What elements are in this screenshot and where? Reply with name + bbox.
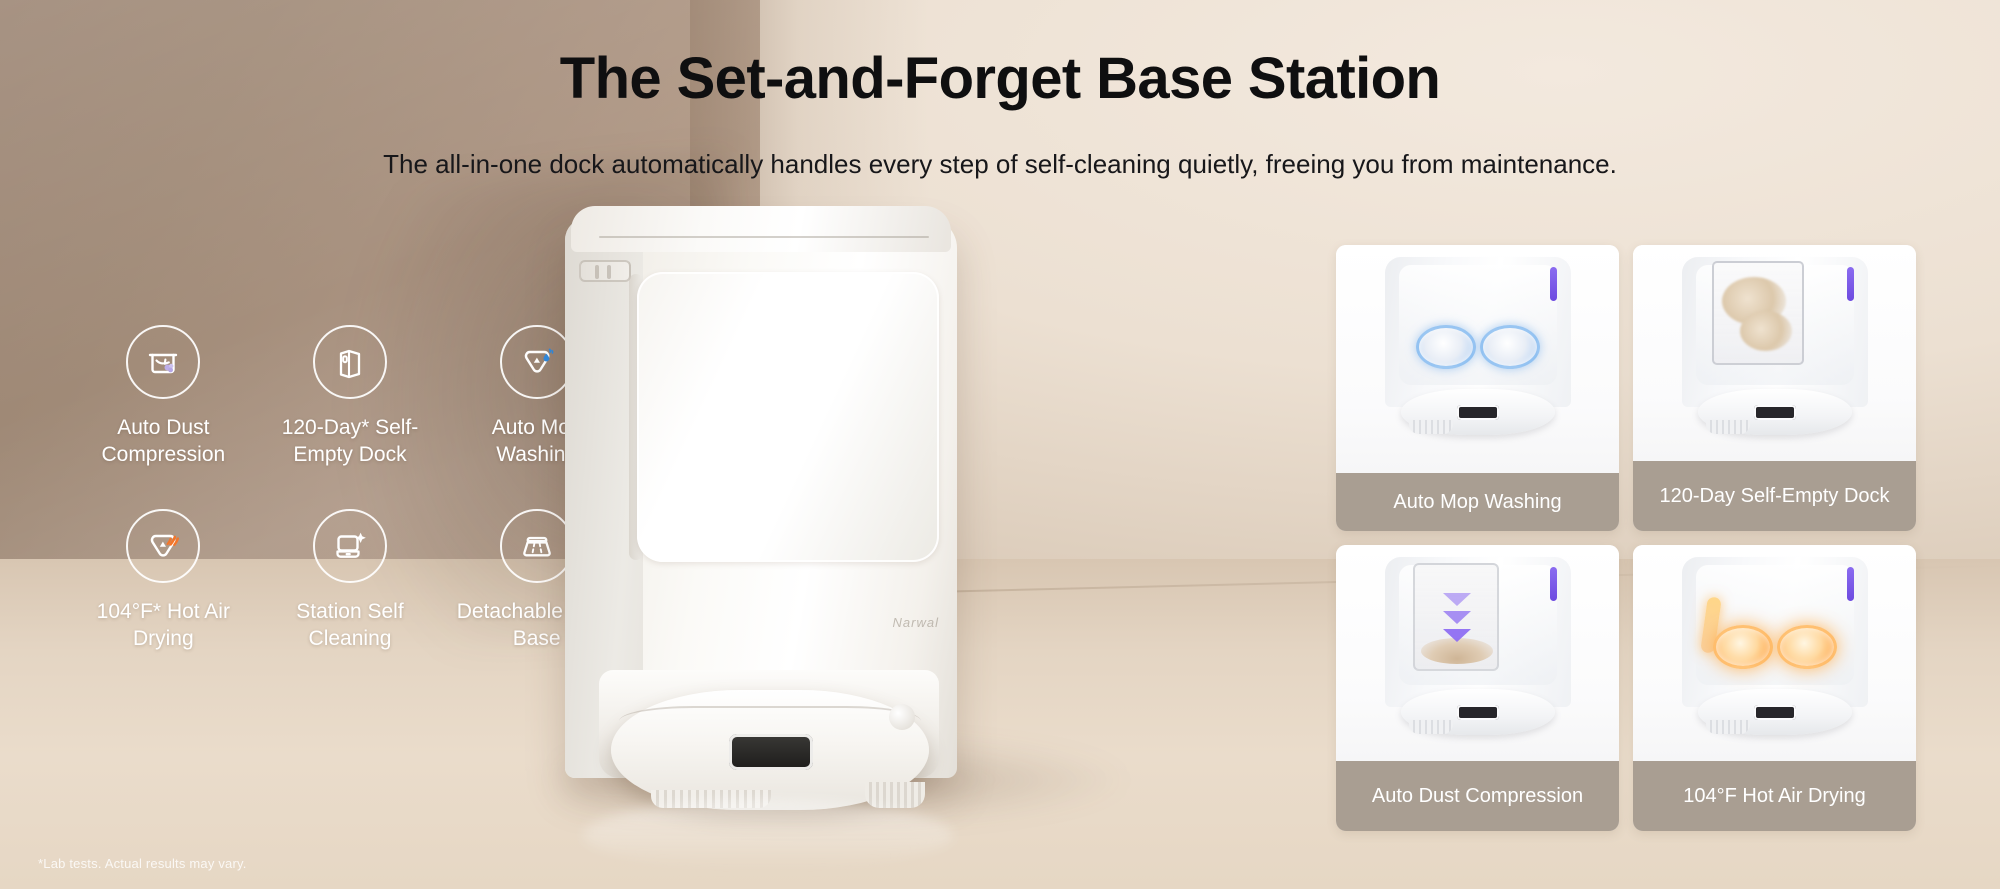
mop-pad: [1480, 325, 1540, 369]
mini-robot-window: [1457, 705, 1499, 720]
dust-bag-compartment: [1712, 261, 1804, 365]
feature-label: Auto Dust Compression: [81, 415, 246, 469]
status-light: [1847, 267, 1854, 301]
status-light: [1550, 567, 1557, 601]
mini-robot: [1698, 689, 1852, 735]
status-light: [1847, 567, 1854, 601]
mop-pad: [1416, 325, 1476, 369]
dust-clump: [1740, 311, 1792, 351]
mini-station-shell: [1682, 257, 1868, 407]
card-caption: Auto Dust Compression: [1336, 761, 1619, 831]
mini-station: [1682, 257, 1868, 435]
detachable-dock-base-icon: [500, 509, 574, 583]
dock-lid-seam: [599, 236, 929, 238]
card-caption: 120-Day Self-Empty Dock: [1633, 461, 1916, 531]
feature-card-dust-compression[interactable]: Auto Dust Compression: [1336, 545, 1619, 831]
mop-pad: [1777, 625, 1837, 669]
mini-robot-window: [1754, 405, 1796, 420]
mop-pads-drying: [1713, 625, 1837, 669]
product-feature-banner: The Set-and-Forget Base Station The all-…: [0, 0, 2000, 889]
feature-list: Auto Dust Compression 120-Day* Self-Empt…: [70, 325, 630, 653]
robot-top-edge: [619, 706, 921, 736]
product-brand-mark: Narwal: [893, 615, 939, 630]
mini-station-shell: [1385, 557, 1571, 707]
mini-robot-window: [1457, 405, 1499, 420]
robot-side-wheel: [889, 704, 915, 730]
mini-robot-vents: [1706, 720, 1750, 734]
robot-sensor-window: [729, 734, 813, 770]
feature-card-grid: Auto Mop Washing: [1336, 245, 1916, 831]
card-photo-mop-washing: [1336, 245, 1619, 473]
feature-card-mop-washing[interactable]: Auto Mop Washing: [1336, 245, 1619, 531]
product-reflection: [583, 800, 953, 870]
card-caption: 104°F Hot Air Drying: [1633, 761, 1916, 831]
page-subtitle: The all-in-one dock automatically handle…: [0, 148, 2000, 182]
feature-card-self-empty-dock[interactable]: 120-Day Self-Empty Dock: [1633, 245, 1916, 531]
mini-robot-vents: [1409, 420, 1453, 434]
card-caption: Auto Mop Washing: [1336, 473, 1619, 531]
feature-label: 120-Day* Self-Empty Dock: [267, 415, 432, 469]
mini-station: [1682, 557, 1868, 735]
feature-label: Station Self Cleaning: [267, 599, 432, 653]
feature-item-hot-air-drying: 104°F* Hot Air Drying: [70, 509, 257, 653]
dust-compression-icon: [126, 325, 200, 399]
robot-vacuum: [611, 690, 929, 810]
mini-station: [1385, 557, 1571, 735]
hot-air-drying-icon: [126, 509, 200, 583]
footnote-disclaimer: *Lab tests. Actual results may vary.: [38, 856, 247, 871]
mop-pad: [1713, 625, 1773, 669]
feature-card-hot-air-drying[interactable]: 104°F Hot Air Drying: [1633, 545, 1916, 831]
mini-robot-vents: [1409, 720, 1453, 734]
page-title: The Set-and-Forget Base Station: [0, 48, 2000, 111]
dock-top-lid: [571, 206, 951, 252]
mini-station: [1385, 257, 1571, 435]
feature-item-self-empty-dock: 120-Day* Self-Empty Dock: [257, 325, 444, 469]
mop-pads-washing: [1416, 325, 1540, 369]
compression-arrows-icon: [1443, 593, 1471, 655]
card-photo-dust-compression: [1336, 545, 1619, 761]
feature-label: 104°F* Hot Air Drying: [81, 599, 246, 653]
dock-front-panel: [637, 272, 939, 562]
robot-side-brush: [865, 782, 925, 808]
mini-robot-vents: [1706, 420, 1750, 434]
product-hero-image: Narwal: [565, 200, 965, 820]
card-photo-hot-air-drying: [1633, 545, 1916, 761]
status-light: [1550, 267, 1557, 301]
mini-robot: [1401, 689, 1555, 735]
feature-item-auto-dust-compression: Auto Dust Compression: [70, 325, 257, 469]
station-self-cleaning-icon: [313, 509, 387, 583]
feature-item-station-self-cleaning: Station Self Cleaning: [257, 509, 444, 653]
card-photo-self-empty-dock: [1633, 245, 1916, 461]
mini-robot-window: [1754, 705, 1796, 720]
self-empty-dock-icon: [313, 325, 387, 399]
mini-robot: [1401, 389, 1555, 435]
dock-air-vent: [579, 260, 631, 282]
mop-washing-icon: [500, 325, 574, 399]
mini-robot: [1698, 389, 1852, 435]
